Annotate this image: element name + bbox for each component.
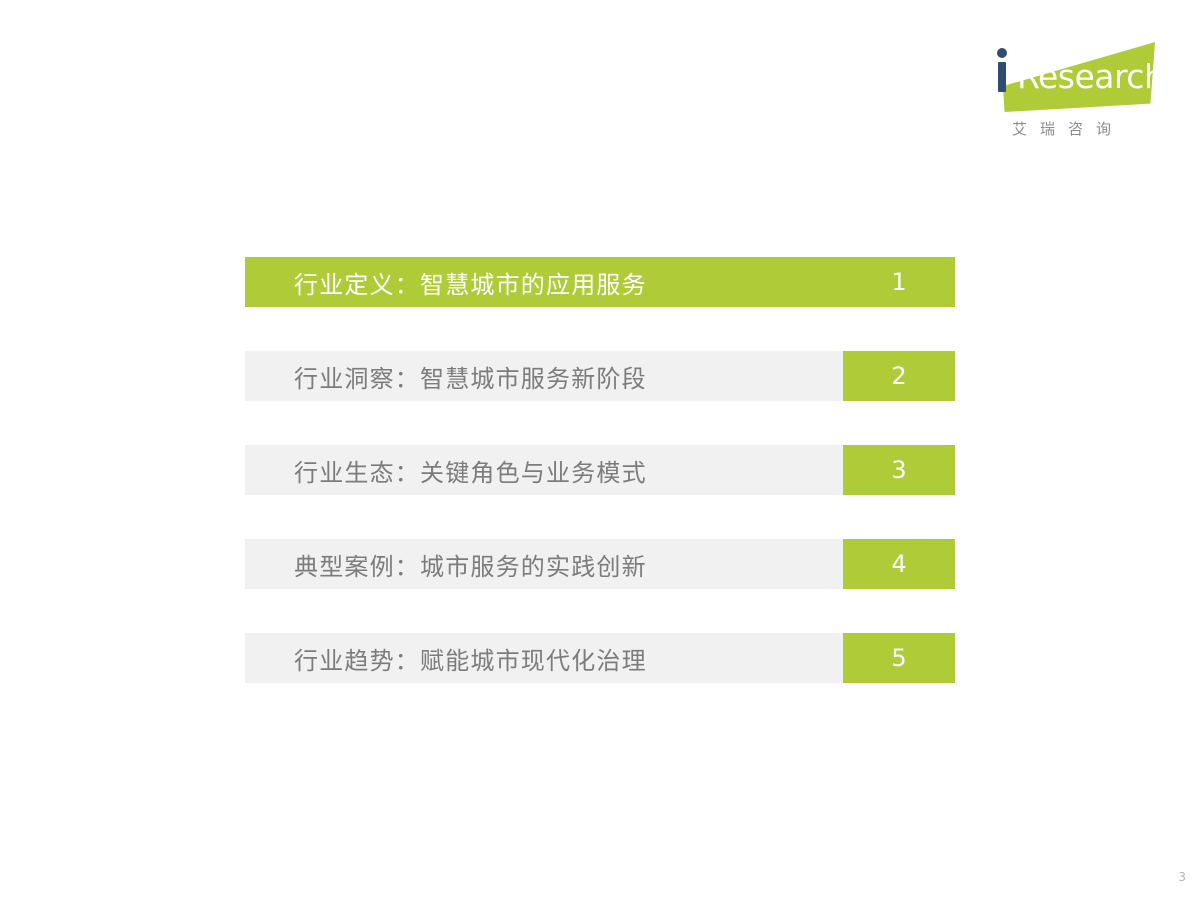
toc-label-3: 行业生态：关键角色与业务模式	[245, 445, 843, 495]
toc-number-5: 5	[843, 633, 955, 683]
toc-row-4[interactable]: 典型案例：城市服务的实践创新 4	[245, 539, 955, 589]
page-number: 3	[1178, 870, 1186, 884]
toc-number-2: 2	[843, 351, 955, 401]
iresearch-logo: Research 艾瑞咨询	[975, 12, 1155, 152]
toc-row-1[interactable]: 行业定义：智慧城市的应用服务 1	[245, 257, 955, 307]
toc-label-1: 行业定义：智慧城市的应用服务	[245, 257, 843, 307]
toc-number-4: 4	[843, 539, 955, 589]
toc-row-2[interactable]: 行业洞察：智慧城市服务新阶段 2	[245, 351, 955, 401]
toc-label-4: 典型案例：城市服务的实践创新	[245, 539, 843, 589]
logo-i-dot-icon	[997, 48, 1007, 58]
toc-number-3: 3	[843, 445, 955, 495]
toc-label-2: 行业洞察：智慧城市服务新阶段	[245, 351, 843, 401]
logo-i-stem-icon	[998, 62, 1006, 92]
toc-row-5[interactable]: 行业趋势：赋能城市现代化治理 5	[245, 633, 955, 683]
logo-wordmark: Research	[1017, 60, 1164, 93]
toc-label-5: 行业趋势：赋能城市现代化治理	[245, 633, 843, 683]
logo-mark: Research	[975, 12, 1155, 112]
table-of-contents: 行业定义：智慧城市的应用服务 1 行业洞察：智慧城市服务新阶段 2 行业生态：关…	[245, 257, 955, 727]
toc-row-3[interactable]: 行业生态：关键角色与业务模式 3	[245, 445, 955, 495]
toc-number-1: 1	[843, 257, 955, 307]
logo-chinese-name: 艾瑞咨询	[983, 118, 1153, 139]
